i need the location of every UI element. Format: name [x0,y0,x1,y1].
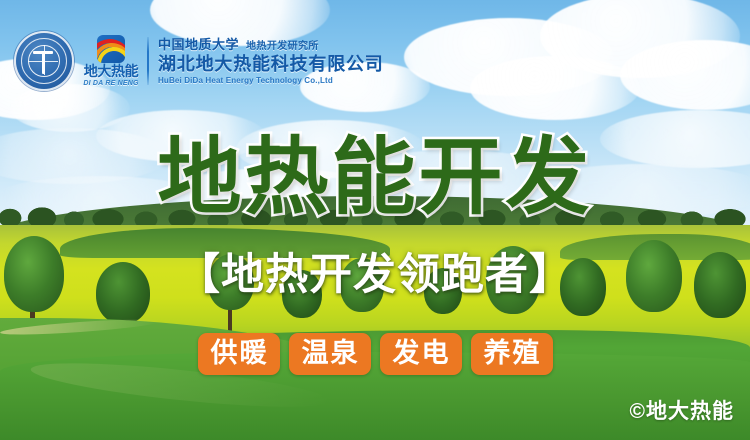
service-badge-breeding[interactable]: 养殖 [471,333,553,375]
brand-name-cn: 地大热能 [82,64,140,79]
brand-divider [147,37,149,85]
seal-emblem-stem [42,51,45,74]
company-name-cn: 湖北地大热能科技有限公司 [158,54,384,75]
service-badge-heating[interactable]: 供暖 [198,333,280,375]
brand-header[interactable]: 地大热能 DI DA RE NENG 中国地质大学 地热开发研究所 湖北地大热能… [14,30,384,92]
copyright-watermark: ©地大热能 [630,400,734,424]
brand-name-en: DI DA RE NENG [82,79,140,88]
service-badge-list: 供暖 温泉 发电 养殖 [0,333,750,375]
service-badge-hotspring[interactable]: 温泉 [289,333,371,375]
geothermal-promo-banner: 地大热能 DI DA RE NENG 中国地质大学 地热开发研究所 湖北地大热能… [0,0,750,440]
institute-name: 地热开发研究所 [246,39,319,54]
organization-text: 中国地质大学 地热开发研究所 湖北地大热能科技有限公司 HuBei DiDa H… [158,37,384,86]
organization-row: 中国地质大学 地热开发研究所 [158,37,384,54]
brand-mark: 地大热能 DI DA RE NENG [82,35,140,88]
rainbow-logo-icon [97,35,125,63]
service-badge-power[interactable]: 发电 [380,333,462,375]
company-name-en: HuBei DiDa Heat Energy Technology Co.,Lt… [158,75,384,86]
university-name: 中国地质大学 [158,37,239,52]
university-seal-icon [14,31,74,91]
page-subtitle: 【地热开发领跑者】 [0,248,750,302]
seal-emblem [33,47,53,74]
page-title: 地热能开发 [0,131,750,223]
